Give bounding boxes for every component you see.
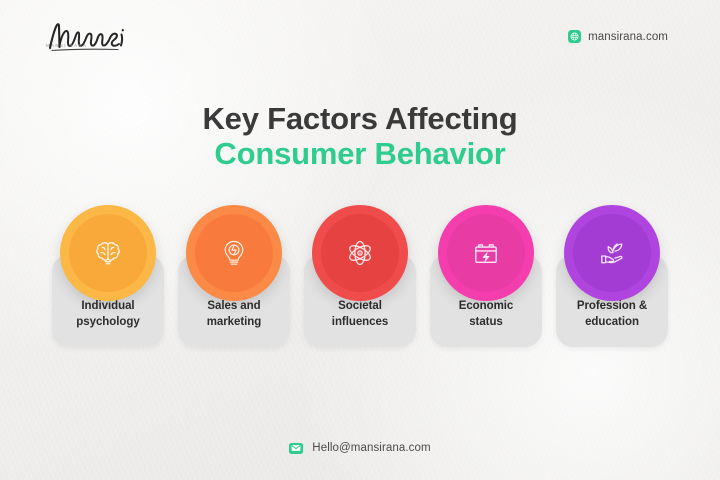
factor-label: Individual psychology (72, 299, 143, 331)
title-line-primary: Key Factors Affecting (0, 102, 720, 137)
factor-badge (60, 205, 156, 301)
page-title: Key Factors Affecting Consumer Behavior (0, 102, 720, 171)
factor-item-societal-influences[interactable]: Societal influences (304, 205, 416, 347)
factor-label: Economic status (455, 299, 518, 331)
factor-item-sales-and-marketing[interactable]: Sales and marketing (178, 205, 290, 347)
header: MANSI RANA mansirana.com (0, 0, 720, 70)
factor-label-line1: Profession & (577, 300, 647, 312)
factor-label-line2: psychology (76, 316, 139, 328)
factor-label-line2: education (585, 316, 639, 328)
footer-email-text: Hello@mansirana.com (312, 442, 430, 454)
brand-logo-subtext: MANSI RANA (46, 43, 87, 48)
factor-badge (312, 205, 408, 301)
factor-label: Profession & education (573, 299, 651, 331)
factor-label-line1: Sales and (207, 300, 260, 312)
factor-label-line2: influences (332, 316, 388, 328)
infographic-canvas: MANSI RANA mansirana.com Key Factors Aff… (0, 0, 720, 480)
globe-icon (568, 30, 581, 43)
atom-icon (339, 232, 381, 274)
factor-item-profession-and-education[interactable]: Profession & education (556, 205, 668, 347)
factor-label-line1: Societal (338, 300, 382, 312)
factor-badge (564, 205, 660, 301)
envelope-icon (289, 443, 303, 454)
factor-label-line1: Economic (459, 300, 514, 312)
factor-label-line2: marketing (207, 316, 262, 328)
title-line-accent: Consumer Behavior (0, 137, 720, 172)
factor-item-individual-psychology[interactable]: Individual psychology (52, 205, 164, 347)
factor-label: Societal influences (328, 299, 392, 331)
footer-contact[interactable]: Hello@mansirana.com (0, 442, 720, 454)
factor-label-line2: status (469, 316, 503, 328)
brand-logo[interactable] (46, 20, 156, 54)
factor-label-line1: Individual (81, 300, 134, 312)
website-url-text: mansirana.com (588, 31, 668, 43)
mansi-script-logo-icon (46, 20, 156, 54)
factor-badge (186, 205, 282, 301)
factor-badge (438, 205, 534, 301)
brain-icon (87, 232, 129, 274)
factor-item-economic-status[interactable]: Economic status (430, 205, 542, 347)
factor-label: Sales and marketing (203, 299, 266, 331)
website-link[interactable]: mansirana.com (568, 30, 668, 43)
lightbulb-icon (213, 232, 255, 274)
battery-bolt-icon (465, 232, 507, 274)
hand-plant-icon (591, 232, 633, 274)
factors-row: Individual psychology (52, 205, 668, 347)
